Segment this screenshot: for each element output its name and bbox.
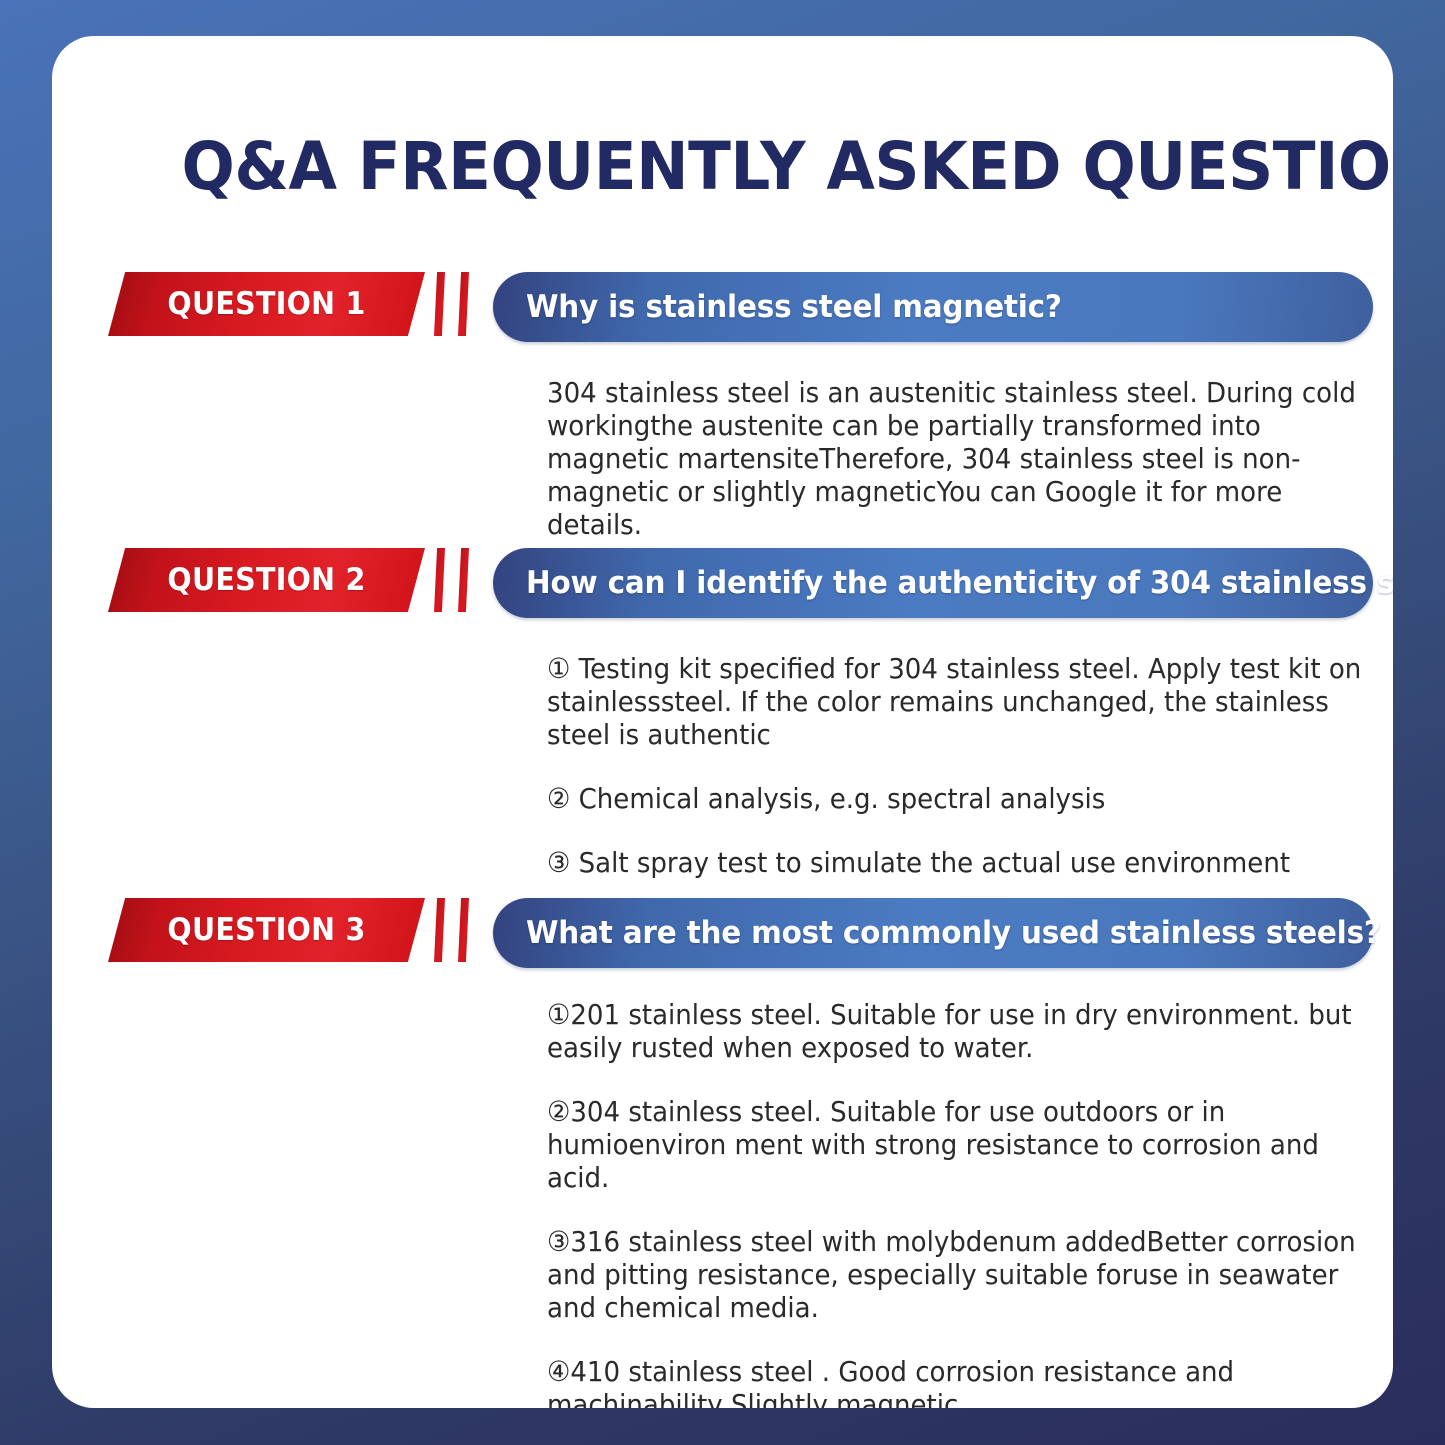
answer-2: ① Testing kit specified for 304 stainles… bbox=[547, 652, 1365, 879]
slash-divider-icon bbox=[458, 898, 469, 962]
slash-divider-icon bbox=[458, 548, 469, 612]
question-pill-1[interactable]: Why is stainless steel magnetic? bbox=[493, 272, 1373, 342]
question-tag-1[interactable]: QUESTION 1 bbox=[108, 272, 425, 336]
answer-paragraph: ①201 stainless steel. Suitable for use i… bbox=[547, 998, 1365, 1064]
slash-divider-icon bbox=[434, 272, 445, 336]
slash-divider-icon bbox=[458, 272, 469, 336]
question-tag-2[interactable]: QUESTION 2 bbox=[108, 548, 425, 612]
answer-1: 304 stainless steel is an austenitic sta… bbox=[547, 376, 1365, 541]
answer-paragraph: ②304 stainless steel. Suitable for use o… bbox=[547, 1095, 1365, 1194]
question-pill-3[interactable]: What are the most commonly used stainles… bbox=[493, 898, 1373, 968]
question-tag-3[interactable]: QUESTION 3 bbox=[108, 898, 425, 962]
question-text-3: What are the most commonly used stainles… bbox=[526, 898, 1310, 968]
question-tag-label-3: QUESTION 3 bbox=[121, 898, 413, 962]
answer-3: ①201 stainless steel. Suitable for use i… bbox=[547, 998, 1365, 1408]
faq-page: Q&A FREQUENTLY ASKED QUESTIONS QUESTION … bbox=[0, 0, 1445, 1445]
question-tag-label-2: QUESTION 2 bbox=[121, 548, 413, 612]
answer-paragraph: ③316 stainless steel with molybdenum add… bbox=[547, 1225, 1365, 1324]
answer-paragraph: ④410 stainless steel . Good corrosion re… bbox=[547, 1355, 1365, 1408]
faq-card: Q&A FREQUENTLY ASKED QUESTIONS QUESTION … bbox=[52, 36, 1393, 1408]
answer-paragraph: 304 stainless steel is an austenitic sta… bbox=[547, 376, 1365, 541]
slash-divider-icon bbox=[434, 548, 445, 612]
question-pill-2[interactable]: How can I identify the authenticity of 3… bbox=[493, 548, 1373, 618]
answer-paragraph: ② Chemical analysis, e.g. spectral analy… bbox=[547, 782, 1365, 815]
question-text-1: Why is stainless steel magnetic? bbox=[526, 272, 1310, 342]
question-tag-label-1: QUESTION 1 bbox=[121, 272, 413, 336]
page-title: Q&A FREQUENTLY ASKED QUESTIONS bbox=[182, 128, 1303, 206]
question-text-2: How can I identify the authenticity of 3… bbox=[526, 548, 1310, 618]
slash-divider-icon bbox=[434, 898, 445, 962]
answer-paragraph: ③ Salt spray test to simulate the actual… bbox=[547, 846, 1365, 879]
answer-paragraph: ① Testing kit specified for 304 stainles… bbox=[547, 652, 1365, 751]
